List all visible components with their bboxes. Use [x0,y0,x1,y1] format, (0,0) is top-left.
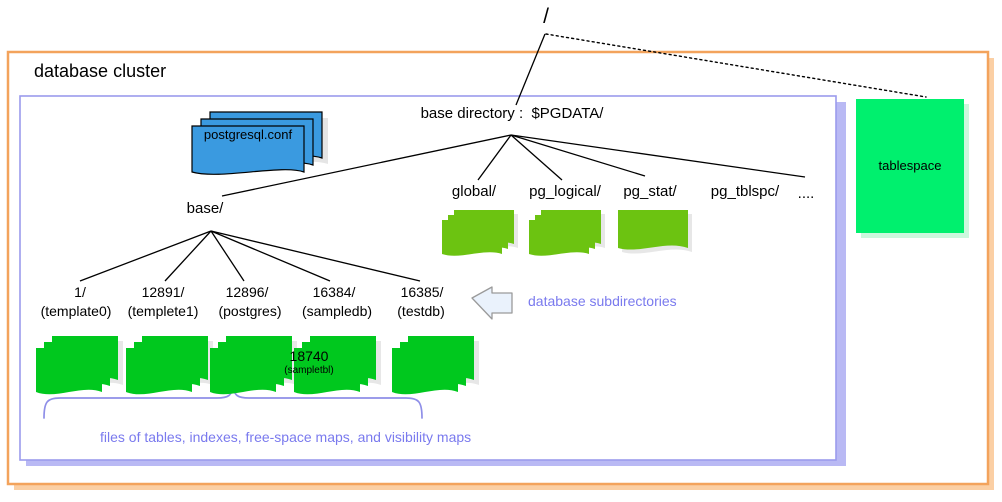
annotation-database-subdirectories: database subdirectories [528,294,677,309]
tablespace-label: tablespace [879,159,942,173]
db-subdir-name-3: (sampledb) [302,304,372,319]
pgdata-child-pg_stat: pg_stat/ [623,184,676,200]
db-subdir-name-0: (template0) [41,304,112,319]
db-subdir-oid-2: 12896/ [226,285,269,300]
base-directory-label: base directory : $PGDATA/ [421,106,604,122]
postgresql-conf-stack [192,112,328,174]
pgdata-child-global: global/ [452,184,496,200]
edge-root-to-pgdata [516,34,545,105]
db-doc-stack-4 [390,336,470,396]
db-doc-stack-3: 18740 (sampletbl) [292,336,372,396]
db-subdir-oid-3: 16384/ [313,285,356,300]
left-arrow-icon [472,287,512,319]
pgdata-child-pg_tblspc: pg_tblspc/ [711,184,779,200]
db-subdir-name-4: (testdb) [397,304,444,319]
db-subdir-oid-4: 16385/ [401,285,444,300]
db-subdir-oid-1: 12891/ [142,285,185,300]
base-directory-node: base/ [187,201,224,217]
base-tree-edges [80,231,420,281]
dir-doc-stack-pg_logical [527,210,593,256]
annotation-files: files of tables, indexes, free-space map… [100,430,471,445]
db-doc-stack-2 [208,336,288,396]
diagram-canvas: / database cluster base directory : $PGD… [0,0,1002,502]
dir-doc-stack-global [440,210,506,256]
db-doc-stack-1 [124,336,204,396]
pgdata-child-ellipsis: .... [798,186,815,202]
db-subdir-name-1: (templete1) [128,304,199,319]
cluster-title: database cluster [34,62,166,81]
db-doc-stack-0 [34,336,114,396]
db-subdir-oid-0: 1/ [74,285,86,300]
db-subdir-name-2: (postgres) [218,304,281,319]
postgresql-conf-label: postgresql.conf [204,128,292,142]
cluster-box-shadow [14,58,994,490]
root-directory-label: / [543,6,549,28]
dir-doc-stack-pg_stat [616,208,688,256]
edge-root-to-tablespace [546,34,926,97]
pgdata-child-pg_logical: pg_logical/ [529,184,601,200]
